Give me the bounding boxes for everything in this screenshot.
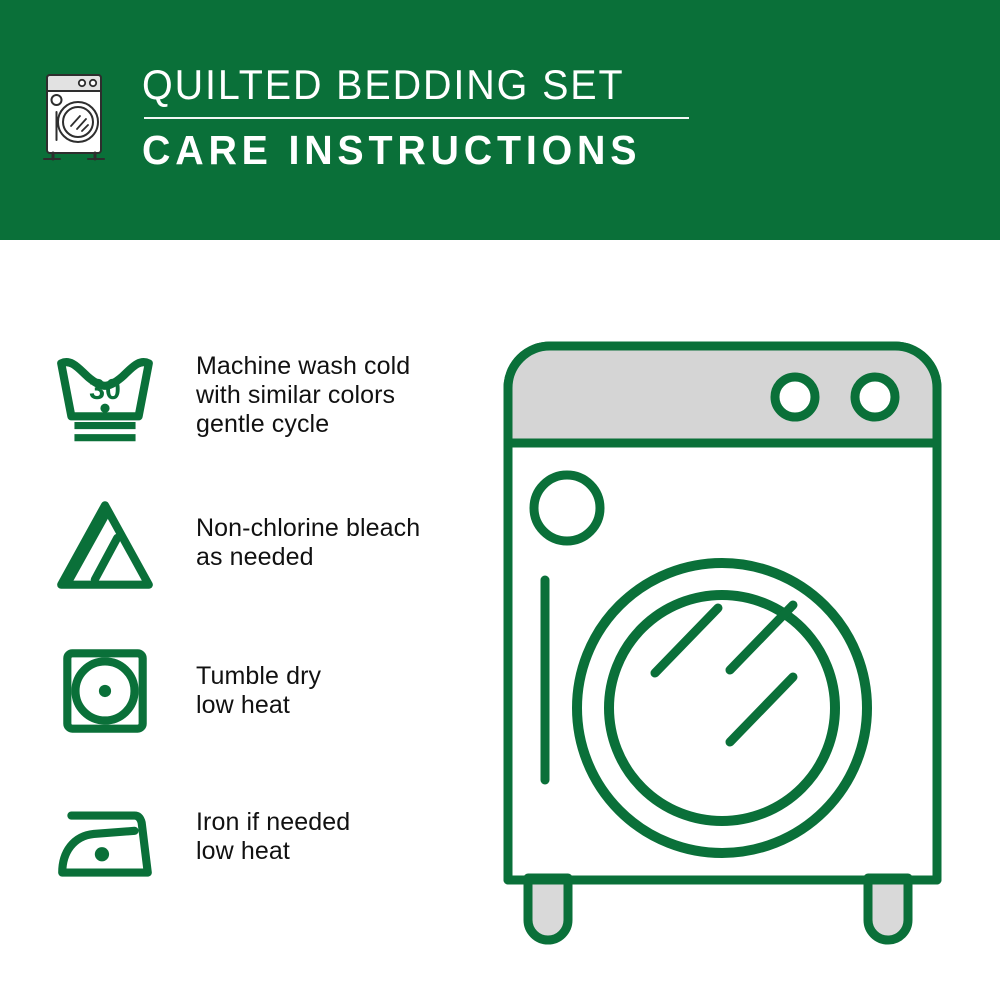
door-inner-ring[interactable] [609,595,835,821]
care-text-line: Machine wash cold [196,352,410,381]
page-subtitle: CARE INSTRUCTIONS [142,127,667,173]
washing-machine-icon [40,68,116,164]
knob-right[interactable] [855,377,895,417]
care-row-tumble-dry: Tumble dry low heat [44,636,484,754]
care-instructions-page: QUILTED BEDDING SET CARE INSTRUCTIONS 30 [0,0,1000,1000]
care-text-line: Iron if needed [196,808,350,837]
leg-right [868,878,908,940]
care-text-line: Tumble dry [196,662,321,691]
care-text-line: Non-chlorine bleach [196,514,420,543]
knob-left[interactable] [775,377,815,417]
care-text-iron: Iron if needed low heat [196,784,350,866]
care-text-line: with similar colors [196,381,410,410]
header-band: QUILTED BEDDING SET CARE INSTRUCTIONS [0,0,1000,240]
care-text-wash: Machine wash cold with similar colors ge… [196,340,410,439]
care-text-bleach: Non-chlorine bleach as needed [196,488,420,572]
wash-temp-label: 30 [89,374,121,406]
page-title: QUILTED BEDDING SET [142,62,656,108]
leg-left [528,878,568,940]
wash-symbol-container: 30 [44,340,166,452]
care-text-line: as needed [196,543,420,572]
iron-low-heat-icon [49,789,161,891]
tumble-dry-low-heat-icon [49,641,161,743]
front-load-washing-machine-illustration [490,330,980,950]
washing-machine-illustration [490,330,980,950]
care-text-line: low heat [196,837,350,866]
detergent-dial[interactable] [534,475,600,541]
iron-symbol-container [44,784,166,896]
title-divider [144,117,689,119]
wash-tub-30-gentle-icon: 30 [49,345,161,447]
care-instruction-list: 30 Machine wash cold with similar colors… [44,340,484,902]
dry-symbol-container [44,636,166,748]
care-row-iron: Iron if needed low heat [44,784,484,902]
care-row-bleach: Non-chlorine bleach as needed [44,488,484,606]
care-text-line: gentle cycle [196,410,410,439]
care-text-line: low heat [196,691,321,720]
care-row-wash: 30 Machine wash cold with similar colors… [44,340,484,458]
care-text-tumble-dry: Tumble dry low heat [196,636,321,720]
bleach-symbol-container [44,488,166,600]
triangle-non-chlorine-bleach-icon [49,493,161,595]
header-content: QUILTED BEDDING SET CARE INSTRUCTIONS [40,62,689,173]
header-title-group: QUILTED BEDDING SET CARE INSTRUCTIONS [142,62,689,173]
